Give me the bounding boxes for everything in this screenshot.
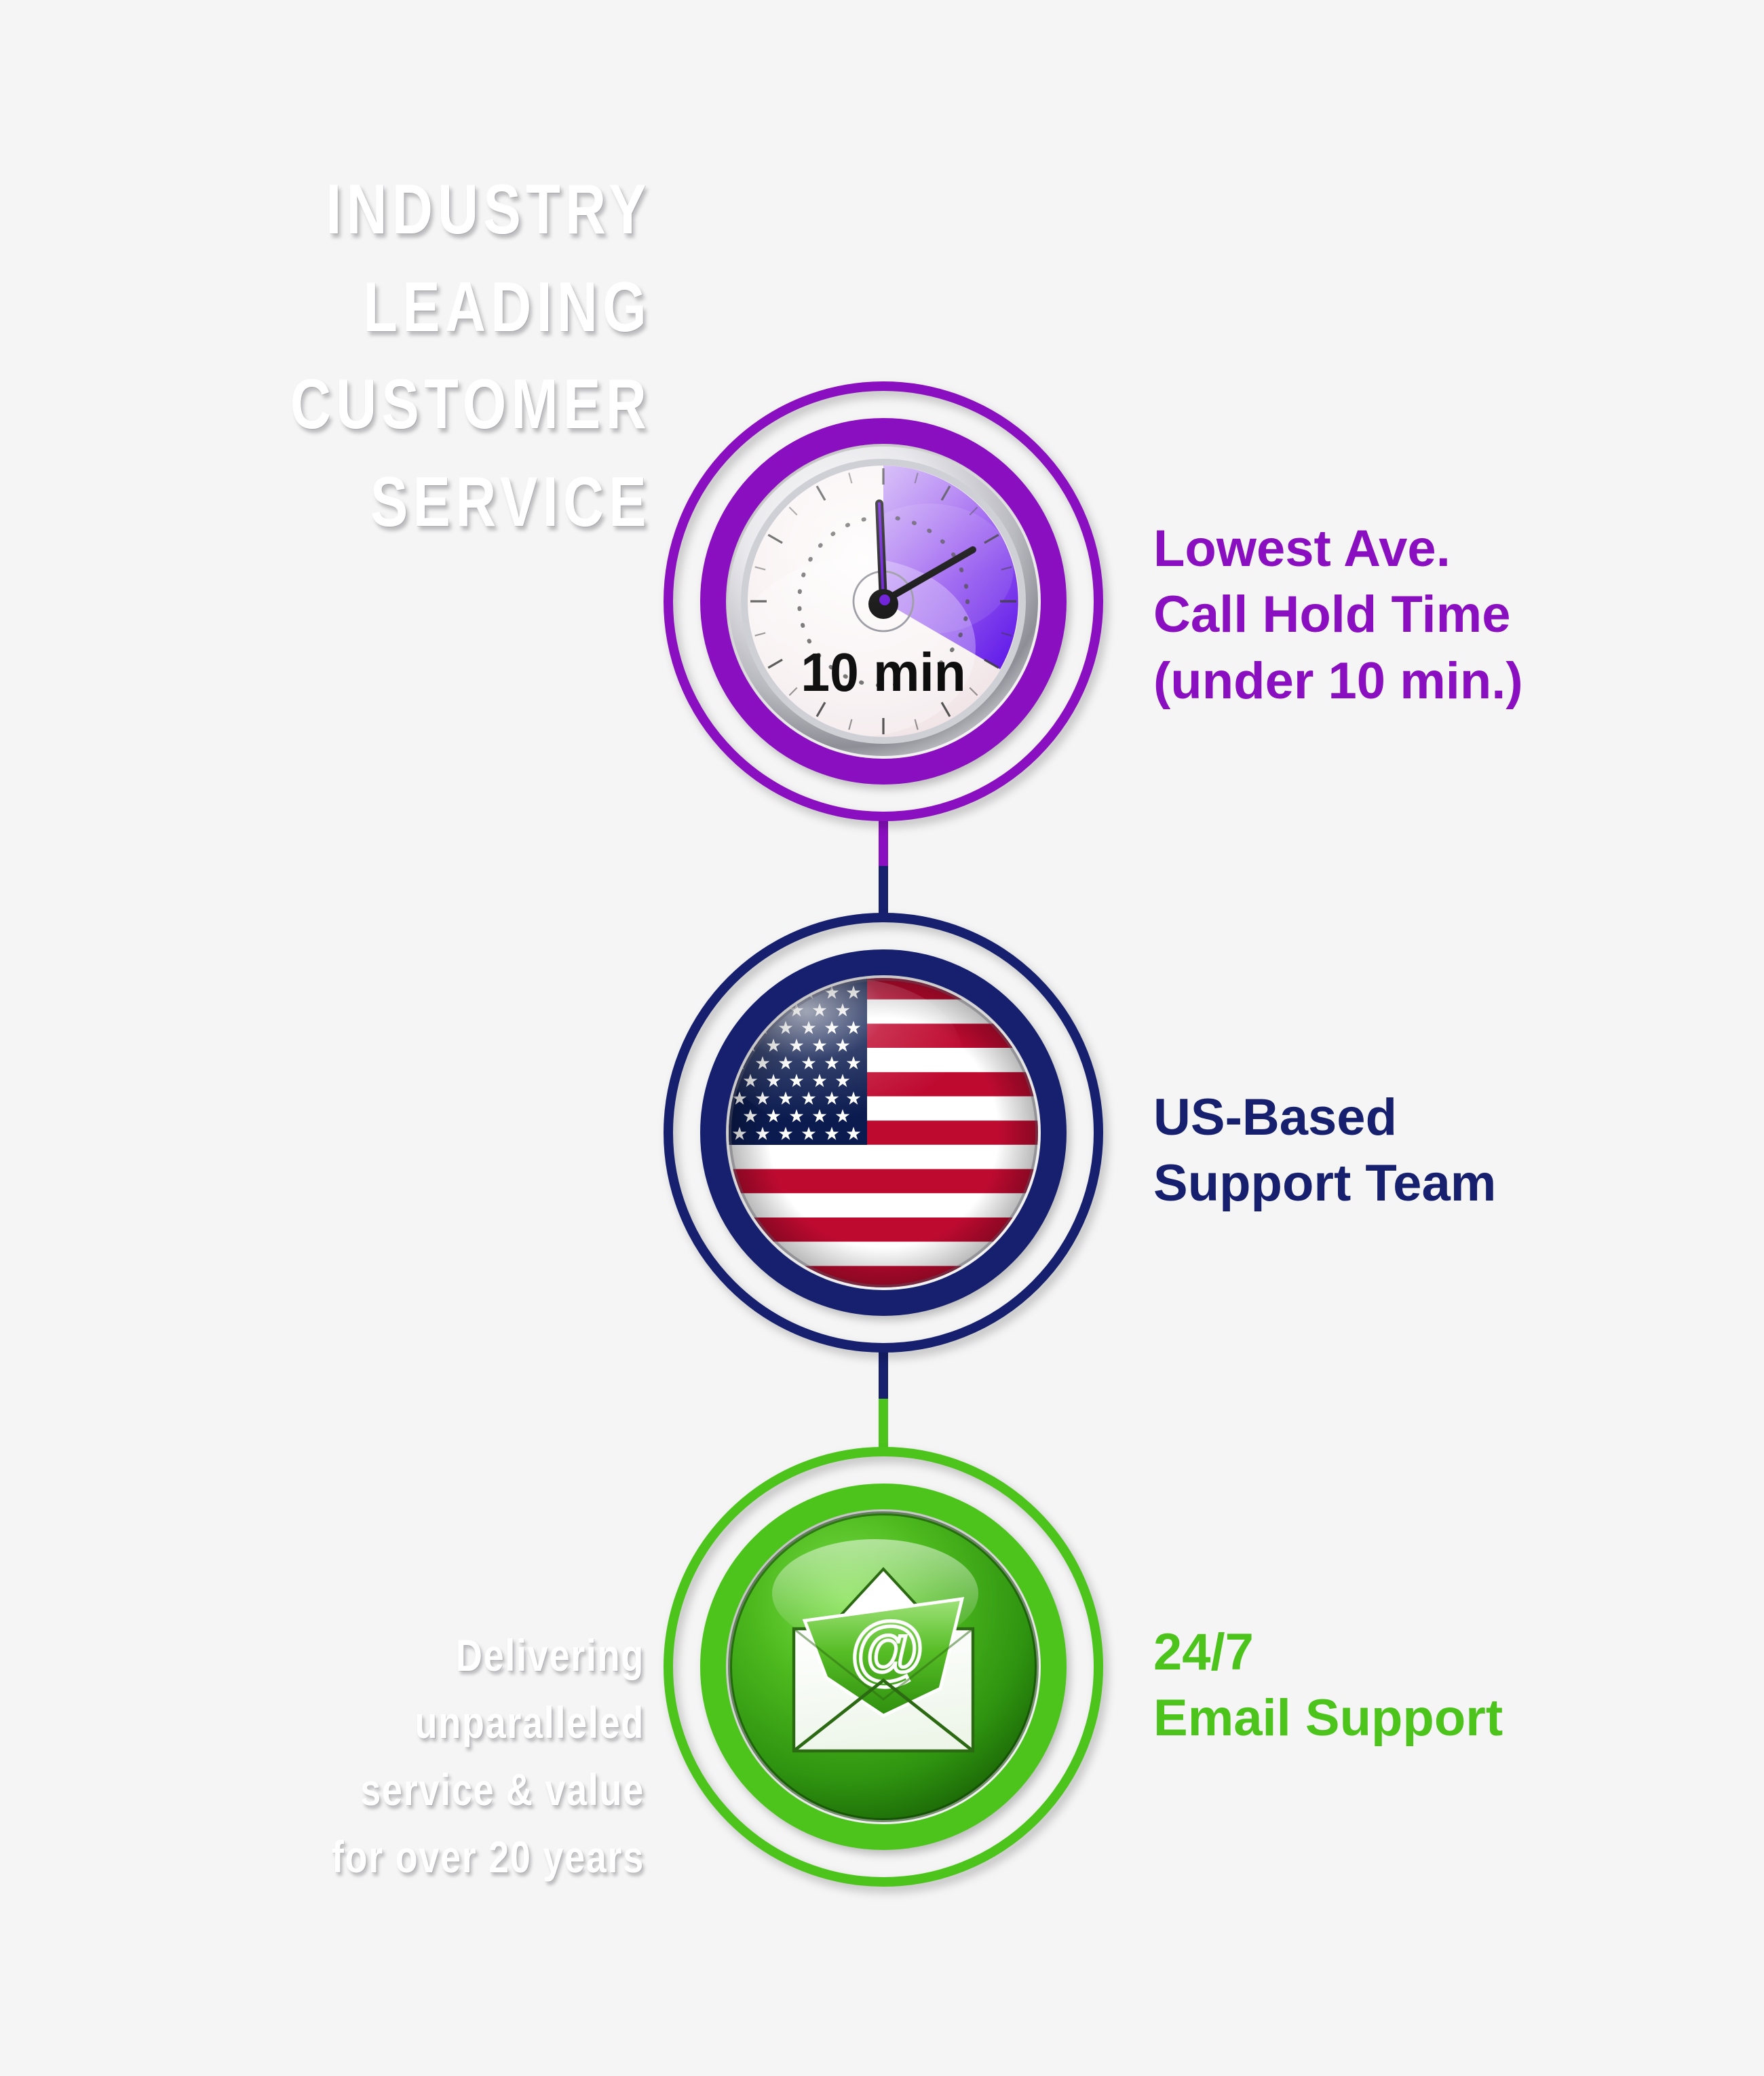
headline-line-1: INDUSTRY [228, 162, 651, 259]
label-email-support: 24/7 Email Support [1153, 1619, 1503, 1752]
tagline-line-1: Delivering [183, 1622, 645, 1689]
connector-segment-navy [879, 866, 888, 920]
stopwatch-icon: 10 min [726, 444, 1041, 759]
tagline: Delivering unparalleled service & value … [183, 1622, 645, 1891]
headline-line-4: SERVICE [228, 454, 651, 552]
badge-email-support[interactable]: @ [664, 1447, 1111, 1895]
label-us-based-support: US-Based Support Team [1153, 1084, 1496, 1217]
label-line-2: Call Hold Time [1153, 582, 1523, 647]
headline-line-2: LEADING [228, 259, 651, 357]
page-title: INDUSTRY LEADING CUSTOMER SERVICE [228, 162, 651, 551]
us-flag-icon [726, 975, 1041, 1290]
connector-segment-green [879, 1399, 888, 1452]
badge-us-based-support[interactable] [664, 913, 1111, 1361]
label-call-hold-time: Lowest Ave. Call Hold Time (under 10 min… [1153, 516, 1523, 714]
label-line-2: Email Support [1153, 1685, 1503, 1751]
tagline-line-3: service & value [183, 1756, 645, 1824]
connector-flag-to-email [879, 1345, 888, 1452]
label-line-1: Lowest Ave. [1153, 516, 1523, 582]
label-line-1: US-Based [1153, 1084, 1496, 1150]
at-symbol: @ [850, 1606, 924, 1691]
headline-line-3: CUSTOMER [228, 356, 651, 454]
badge-call-hold-time[interactable]: 10 min [664, 381, 1111, 829]
email-envelope-icon: @ [726, 1509, 1041, 1824]
tagline-line-4: for over 20 years [183, 1824, 645, 1891]
tagline-line-2: unparalleled [183, 1689, 645, 1756]
infographic-canvas: INDUSTRY LEADING CUSTOMER SERVICE [0, 0, 1764, 2076]
label-line-3: (under 10 min.) [1153, 648, 1523, 714]
label-line-1: 24/7 [1153, 1619, 1503, 1685]
label-line-2: Support Team [1153, 1150, 1496, 1216]
